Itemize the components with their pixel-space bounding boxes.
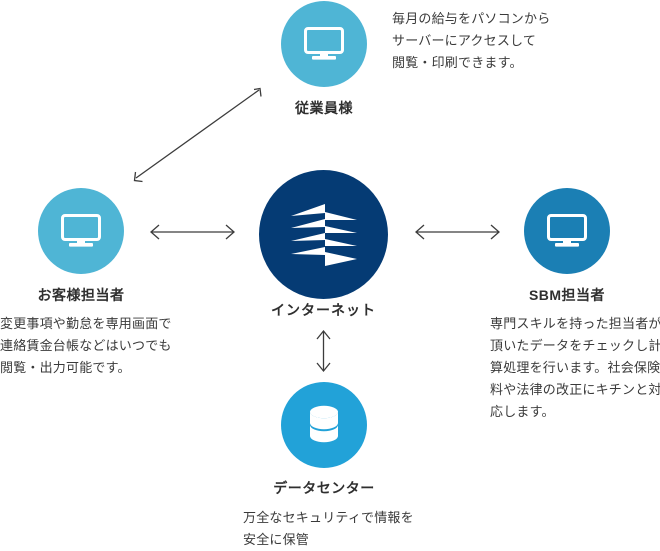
connector-customer-internet	[151, 225, 234, 239]
sbm-label: SBM担当者	[506, 287, 628, 304]
datacenter-description: 万全なセキュリティで情報を 安全に保管	[243, 507, 463, 551]
sbm-description: 専門スキルを持った担当者が 頂いたデータをチェックし計 算処理を行います。社会保…	[490, 313, 660, 423]
customer-description: 変更事項や勤怠を専用画面で 連絡賃金台帳などはいつでも 閲覧・出力可能です。	[0, 313, 200, 379]
employee-circle[interactable]	[281, 1, 367, 87]
employee-label: 従業員様	[281, 100, 367, 117]
employee-description: 毎月の給与をパソコンから サーバーにアクセスして 閲覧・印刷できます。	[392, 8, 622, 74]
customer-label: お客様担当者	[20, 287, 142, 304]
database-icon	[305, 404, 343, 446]
monitor-icon	[302, 26, 346, 62]
monitor-icon	[545, 213, 589, 249]
connector-internet-datacenter	[317, 331, 330, 371]
customer-circle[interactable]	[38, 188, 124, 274]
datacenter-circle[interactable]	[281, 382, 367, 468]
server-stack-icon	[287, 200, 361, 270]
sbm-circle[interactable]	[524, 188, 610, 274]
datacenter-label: データセンター	[254, 480, 394, 497]
connector-internet-sbm	[416, 225, 499, 239]
monitor-icon	[59, 213, 103, 249]
connector-customer-employee	[135, 89, 262, 182]
system-architecture-diagram: 従業員様 毎月の給与をパソコンから サーバーにアクセスして 閲覧・印刷できます。…	[0, 0, 660, 545]
internet-circle[interactable]	[259, 170, 388, 299]
internet-label: インターネット	[244, 302, 403, 319]
